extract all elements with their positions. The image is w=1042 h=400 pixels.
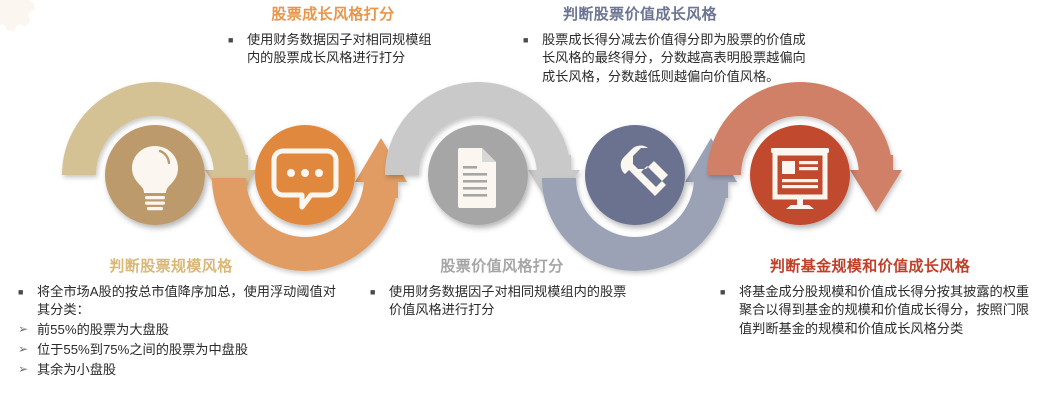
arrow-bullet-icon: ➢: [18, 361, 28, 378]
block-value-growth-title: 判断股票价值成长风格: [515, 6, 765, 25]
square-bullet-icon: ■: [720, 286, 725, 299]
list-item-text: 将基金成分股规模和价值成长得分按其披露的权重聚合以得到基金的规模和价值成长得分，…: [739, 284, 1029, 336]
document-icon: [458, 148, 496, 208]
block-value-score-title: 股票价值风格打分: [352, 258, 652, 277]
block-fund-style-title: 判断基金规模和价值成长风格: [700, 258, 1040, 277]
node-size-style[interactable]: [105, 125, 205, 225]
list-item-text: 使用财务数据因子对相同规模组内的股票价值风格进行打分: [389, 284, 626, 318]
list-item: ■股票成长得分减去价值得分即为股票的价值成长风格的最终得分，分数越高表明股票越偏…: [523, 31, 814, 87]
node-growth-score[interactable]: [255, 125, 355, 225]
block-value-score: 股票价值风格打分 ■使用财务数据因子对相同规模组内的股票价值风格进行打分: [352, 258, 652, 321]
arrow-bullet-icon: ➢: [18, 341, 28, 358]
list-item: ➢前55%的股票为大盘股: [18, 321, 337, 340]
list-item-text: 其余为小盘股: [37, 362, 116, 377]
chat-bubble-icon: [274, 151, 336, 207]
block-fund-style: 判断基金规模和价值成长风格 ■将基金成分股规模和价值成长得分按其披露的权重聚合以…: [700, 258, 1040, 340]
block-size-style-bullets: ■将全市场A股的按总市值降序加总，使用浮动阈值对其分类： ➢前55%的股票为大盘…: [18, 283, 336, 380]
list-item: ■使用财务数据因子对相同规模组内的股票成长风格进行打分: [228, 31, 432, 68]
block-growth-score-bullets: ■使用财务数据因子对相同规模组内的股票成长风格进行打分: [228, 31, 448, 68]
process-diagram-slide: 股票成长风格打分 ■使用财务数据因子对相同规模组内的股票成长风格进行打分 判断股…: [0, 0, 1042, 400]
square-bullet-icon: ■: [228, 34, 233, 47]
block-fund-style-bullets: ■将基金成分股规模和价值成长得分按其披露的权重聚合以得到基金的规模和价值成长得分…: [720, 283, 1040, 339]
list-item-text: 将全市场A股的按总市值降序加总，使用浮动阈值对其分类：: [37, 284, 336, 318]
arc-2-orange: [212, 138, 407, 271]
arc-4-slate: [542, 138, 737, 271]
block-value-growth: 判断股票价值成长风格 ■股票成长得分减去价值得分即为股票的价值成长风格的最终得分…: [515, 6, 815, 88]
arc-1-tan: [62, 82, 257, 212]
list-item-text: 前55%的股票为大盘股: [37, 322, 169, 337]
square-bullet-icon: ■: [370, 286, 375, 299]
arc-3-gray: [385, 82, 580, 212]
list-item-text: 位于55%到75%之间的股票为中盘股: [37, 342, 248, 357]
list-item: ■将全市场A股的按总市值降序加总，使用浮动阈值对其分类：: [18, 283, 337, 320]
square-bullet-icon: ■: [523, 34, 528, 47]
block-growth-score-title: 股票成长风格打分: [218, 6, 448, 25]
list-item: ■将基金成分股规模和价值成长得分按其披露的权重聚合以得到基金的规模和价值成长得分…: [720, 283, 1039, 339]
node-value-score[interactable]: [428, 125, 528, 225]
list-item-text: 股票成长得分减去价值得分即为股票的价值成长风格的最终得分，分数越高表明股票越偏向…: [542, 32, 806, 84]
block-value-score-bullets: ■使用财务数据因子对相同规模组内的股票价值风格进行打分: [370, 283, 652, 320]
arrow-bullet-icon: ➢: [18, 321, 28, 338]
node-fund-style[interactable]: [750, 125, 850, 225]
arc-5-salmon: [707, 82, 902, 212]
presentation-board-icon: [771, 148, 829, 209]
lightbulb-icon: [132, 146, 178, 210]
list-item: ■使用财务数据因子对相同规模组内的股票价值风格进行打分: [370, 283, 634, 320]
block-value-growth-bullets: ■股票成长得分减去价值得分即为股票的价值成长风格的最终得分，分数越高表明股票越偏…: [523, 31, 815, 87]
list-item: ➢其余为小盘股: [18, 361, 337, 380]
block-size-style-title: 判断股票规模风格: [6, 258, 336, 277]
list-item-text: 使用财务数据因子对相同规模组内的股票成长风格进行打分: [247, 32, 432, 66]
square-bullet-icon: ■: [18, 286, 23, 299]
block-growth-score: 股票成长风格打分 ■使用财务数据因子对相同规模组内的股票成长风格进行打分: [218, 6, 448, 69]
list-item: ➢位于55%到75%之间的股票为中盘股: [18, 341, 337, 360]
block-size-style: 判断股票规模风格 ■将全市场A股的按总市值降序加总，使用浮动阈值对其分类： ➢前…: [6, 258, 336, 380]
